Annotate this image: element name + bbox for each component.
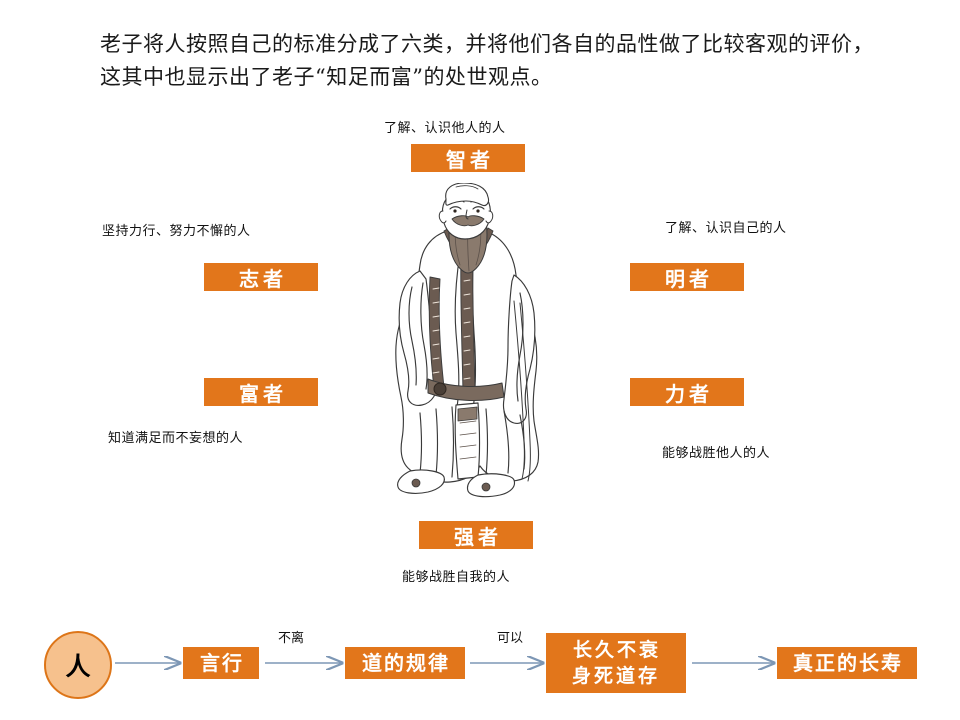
caption-zhi-zhe: 了解、认识他人的人 <box>384 117 506 136</box>
slide-canvas: 老子将人按照自己的标准分成了六类，并将他们各自的品性做了比较客观的评价，这其中也… <box>0 0 960 720</box>
flow-edge-label-keyi: 可以 <box>497 627 523 646</box>
caption-fu-zhe: 知道满足而不妄想的人 <box>108 427 243 446</box>
flow-edge-label-buli: 不离 <box>278 627 304 646</box>
flow-node-daodeguilv[interactable]: 道的规律 <box>345 647 465 679</box>
category-box-zhi-zhe-will[interactable]: 志者 <box>204 263 318 291</box>
flow-node-changshou[interactable]: 真正的长寿 <box>777 647 917 679</box>
flow-node-ren[interactable]: 人 <box>44 631 112 699</box>
caption-qiang-zhe: 能够战胜自我的人 <box>402 566 510 585</box>
caption-zhi-zhe-will: 坚持力行、努力不懈的人 <box>102 220 251 239</box>
category-box-ming-zhe[interactable]: 明者 <box>630 263 744 291</box>
intro-paragraph: 老子将人按照自己的标准分成了六类，并将他们各自的品性做了比较客观的评价，这其中也… <box>100 28 890 94</box>
flow-node-changjiu[interactable]: 长久不衰 身死道存 <box>546 633 686 693</box>
flow-node-yanxing[interactable]: 言行 <box>183 647 259 679</box>
laozi-figure-illustration <box>368 183 564 498</box>
category-box-zhi-zhe[interactable]: 智者 <box>411 144 525 172</box>
category-box-qiang-zhe[interactable]: 强者 <box>419 521 533 549</box>
category-box-fu-zhe[interactable]: 富者 <box>204 378 318 406</box>
caption-li-zhe: 能够战胜他人的人 <box>662 442 770 461</box>
category-box-li-zhe[interactable]: 力者 <box>630 378 744 406</box>
caption-ming-zhe: 了解、认识自己的人 <box>665 217 787 236</box>
